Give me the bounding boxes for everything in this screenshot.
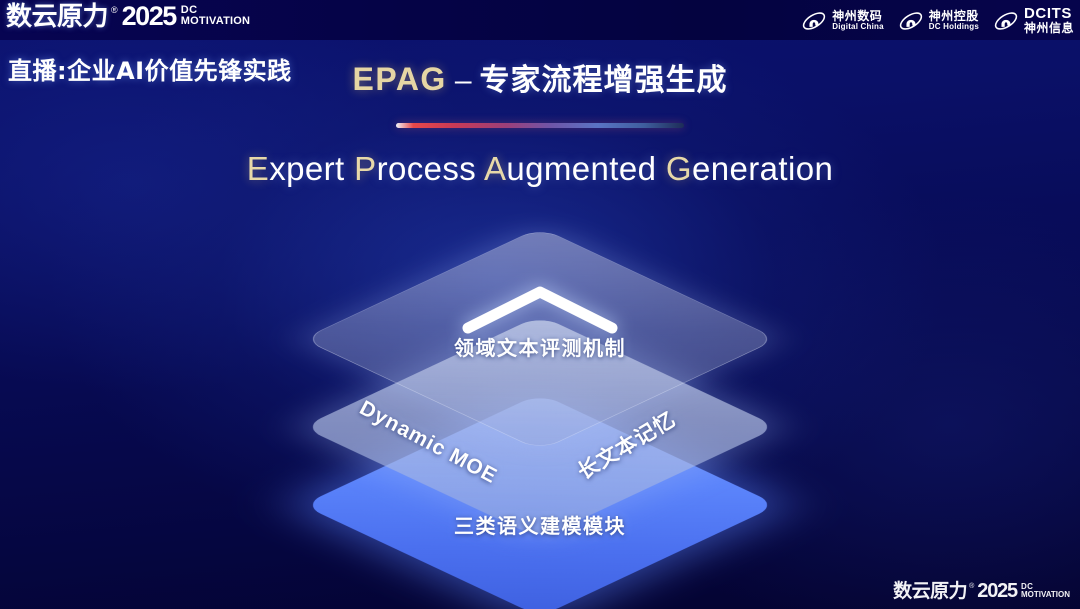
swirl-icon <box>898 8 924 34</box>
brand-lockup: 数云原力 ® 2025 DC MOTIVATION <box>6 4 250 30</box>
heading-dash: – <box>455 64 472 97</box>
partner-text: 神州数码 Digital China <box>832 10 884 32</box>
subtitle-cap-p: P <box>354 150 376 187</box>
partner-name-cn: 神州数码 <box>832 10 884 23</box>
live-subtitle: 直播:企业AI价值先锋实践 <box>8 51 292 86</box>
presentation-slide: 数云原力 ® 2025 DC MOTIVATION 直播:企业AI价值先锋实践 … <box>0 0 1080 609</box>
subtitle-rest-process: rocess <box>377 150 477 187</box>
partner-logo-digital-china: 神州数码 Digital China <box>801 8 884 34</box>
partner-name-cn: 神州信息 <box>1024 22 1074 35</box>
subtitle-cap-a: A <box>484 150 506 187</box>
watermark-motivation: MOTIVATION <box>1021 591 1070 599</box>
brand-name-cn: 数云原力 <box>6 4 108 30</box>
brand-dc-motivation: DC MOTIVATION <box>181 5 250 28</box>
swirl-icon <box>801 8 827 34</box>
partner-name-cn: 神州控股 <box>929 10 979 23</box>
english-subtitle: Expert Process Augmented Generation <box>0 150 1080 188</box>
subtitle-cap-g: G <box>666 150 692 187</box>
brand-year: 2025 <box>122 4 176 29</box>
heading-title-cn: 专家流程增强生成 <box>480 63 728 98</box>
partner-text: DCITS 神州信息 <box>1024 6 1074 35</box>
swirl-icon <box>993 8 1019 34</box>
subtitle-cap-e: E <box>247 150 269 187</box>
partner-logos: 神州数码 Digital China 神州控股 DC Holdings <box>801 6 1074 35</box>
partner-name-en: DCITS <box>1024 6 1074 22</box>
registered-mark-icon: ® <box>111 6 118 15</box>
watermark-dc-motivation: DC MOTIVATION <box>1021 583 1070 599</box>
heading-acronym: EPAG <box>353 61 447 97</box>
diagram-label-bottom: 三类语义建模模块 <box>295 510 785 539</box>
partner-logo-dcits: DCITS 神州信息 <box>993 6 1074 35</box>
partner-text: 神州控股 DC Holdings <box>929 10 979 32</box>
subtitle-rest-generation: eneration <box>692 150 833 187</box>
registered-mark-icon: ® <box>969 583 974 590</box>
subtitle-rest-expert: xpert <box>269 150 344 187</box>
chevron-up-icon <box>456 282 624 338</box>
watermark-name-cn: 数云原力 <box>893 582 967 601</box>
subtitle-rest-augmented: ugmented <box>506 150 656 187</box>
layered-architecture-diagram: 领域文本评测机制 Dynamic MOE 长文本记忆 三类语义建模模块 <box>295 232 785 562</box>
partner-logo-dc-holdings: 神州控股 DC Holdings <box>898 8 979 34</box>
watermark-logo: 数云原力 ® 2025 DC MOTIVATION <box>893 582 1070 601</box>
gradient-divider <box>396 123 684 128</box>
partner-name-en: Digital China <box>832 23 884 32</box>
watermark-year: 2025 <box>977 582 1017 600</box>
partner-name-en: DC Holdings <box>929 23 979 32</box>
brand-motivation: MOTIVATION <box>181 16 250 28</box>
